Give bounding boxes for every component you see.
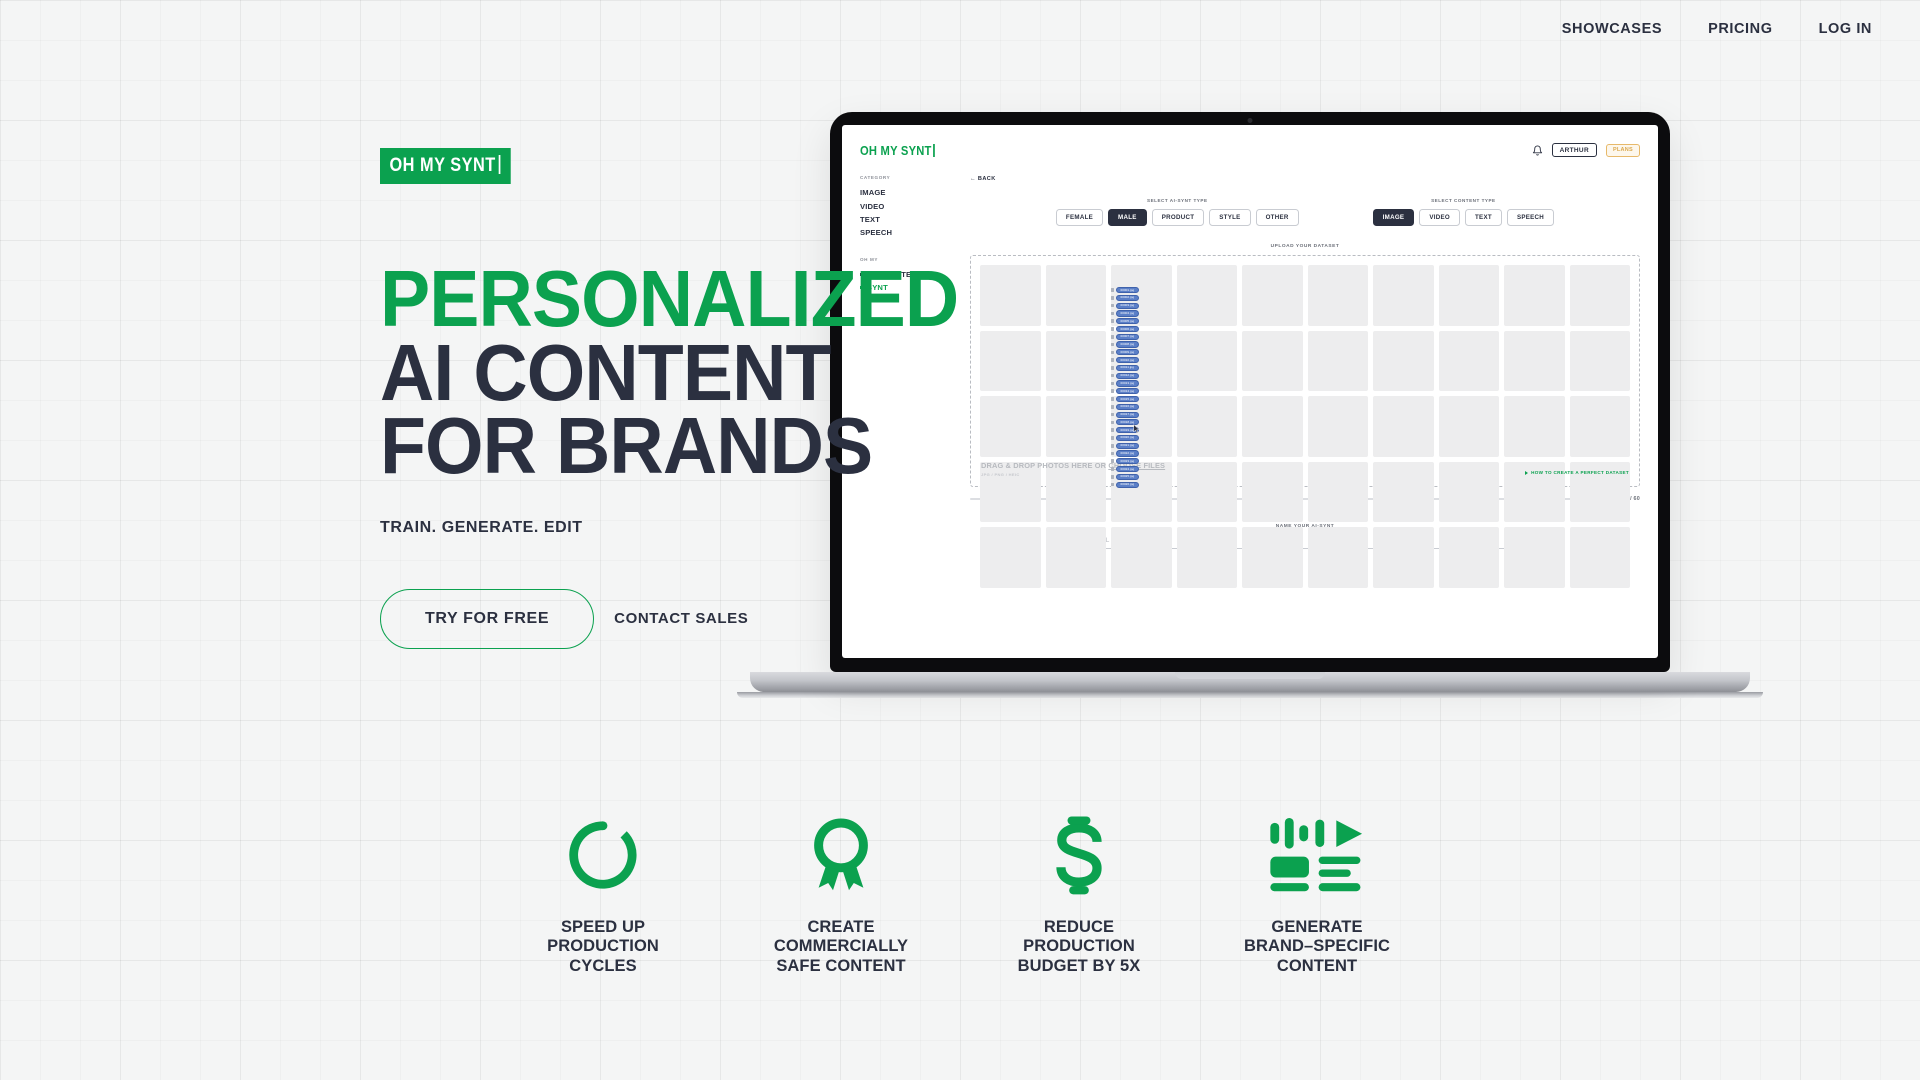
dataset-tile[interactable] [1177,265,1238,326]
dataset-tile[interactable] [980,396,1041,457]
nav-link-pricing[interactable]: PRICING [1708,21,1772,37]
dragged-file-name: 00014.jpg [1116,388,1140,394]
headline-line-1: PERSONALIZED [380,262,906,336]
file-icon [1111,459,1114,463]
dragged-file-name: 00017.jpg [1116,412,1140,418]
dragged-file-name: 00009.jpg [1116,349,1140,355]
dragged-file-chip: 00023.jpg [1111,458,1139,464]
laptop-foot [737,692,1763,698]
dataset-tile[interactable] [1177,527,1238,588]
dataset-tile[interactable] [1046,527,1107,588]
dataset-tile[interactable] [1504,527,1565,588]
how-to-dataset-link[interactable]: HOW TO CREATE A PERFECT DATASET [1525,470,1629,477]
file-icon [1111,428,1114,432]
dragged-file-name: 00007.jpg [1116,334,1140,340]
nav-link-login[interactable]: LOG IN [1819,21,1872,37]
feature-label: SPEED UP PRODUCTION CYCLES [547,918,659,976]
webcam-icon [1248,118,1253,123]
feature-label: GENERATE BRAND–SPECIFIC CONTENT [1244,918,1390,976]
plans-badge-button[interactable]: PLANS [1606,144,1640,157]
content-type-label: SELECT CONTENT TYPE [1373,198,1554,203]
headline-line-2: AI CONTENT [380,336,906,410]
dragged-file-chip: 00012.jpg [1111,373,1139,379]
dataset-tile[interactable] [1439,527,1500,588]
file-icon [1111,366,1114,370]
cta-row: TRY FOR FREE CONTACT SALES [380,589,940,649]
nav-link-showcases[interactable]: SHOWCASES [1562,21,1662,37]
dragged-file-chip: 00011.jpg [1111,365,1139,371]
dataset-tile[interactable] [1046,396,1107,457]
dragged-file-chip: 00006.jpg [1111,326,1139,332]
dataset-tile[interactable] [1177,396,1238,457]
file-icon [1111,405,1114,409]
file-icon [1111,483,1114,487]
media-content-icon [1267,812,1367,898]
file-icon [1111,327,1114,331]
dataset-tile[interactable] [1373,331,1434,392]
file-icon [1111,288,1114,292]
dataset-tile[interactable] [1570,265,1631,326]
dragged-file-chip: 00013.jpg [1111,380,1139,386]
page-title: PERSONALIZED AI CONTENT FOR BRANDS [380,262,906,483]
app-header: OH MY SYNT ARTHUR PLANS [860,139,1640,161]
dragged-file-chip: 00014.jpg [1111,388,1139,394]
feature-speed-up: SPEED UP PRODUCTION CYCLES [484,812,722,976]
dragged-file-name: 00026.jpg [1116,482,1140,488]
dragged-file-chip: 00025.jpg [1111,474,1139,480]
dropzone-footer: DRAG & DROP PHOTOS HERE OR CHOOSE FILES … [981,461,1629,478]
dollar-sign-icon [1046,812,1112,898]
dataset-tile[interactable] [1177,331,1238,392]
dragged-file-chip: 00009.jpg [1111,349,1139,355]
award-ribbon-icon [802,812,880,898]
content-type-selector: SELECT CONTENT TYPE IMAGE VIDEO TEXT SPE… [1373,198,1554,226]
file-icon [1111,475,1114,479]
dragged-file-chip: 00003.jpg [1111,303,1139,309]
dataset-tile[interactable] [1373,396,1434,457]
file-icon [1111,343,1114,347]
file-icon [1111,397,1114,401]
top-navigation: SHOWCASES PRICING LOG IN [0,0,1920,58]
synt-type-female-button[interactable]: FEMALE [1056,209,1103,226]
dataset-tile[interactable] [1570,527,1631,588]
content-type-speech-button[interactable]: SPEECH [1507,209,1554,226]
dataset-tile[interactable] [1242,396,1303,457]
content-type-text-button[interactable]: TEXT [1465,209,1502,226]
dataset-tile[interactable] [1439,331,1500,392]
dragged-file-name: 00013.jpg [1116,380,1140,386]
dataset-tile[interactable] [1373,265,1434,326]
app-body: CATEGORY IMAGE VIDEO TEXT SPEECH OH MY F… [860,175,1640,634]
content-type-image-button[interactable]: IMAGE [1373,209,1415,226]
hero-tagline: TRAIN. GENERATE. EDIT [380,519,940,537]
dragged-file-chip: 00015.jpg [1111,396,1139,402]
synt-type-male-button[interactable]: MALE [1108,209,1147,226]
dragged-file-name: 00005.jpg [1116,318,1140,324]
brand-logo-text: OH MY SYNT [389,155,495,176]
text-cursor-icon [498,155,500,174]
dataset-tile[interactable] [1308,331,1369,392]
file-icon [1111,319,1114,323]
dataset-tile[interactable] [1111,527,1172,588]
dragged-file-chip: 00010.jpg [1111,357,1139,363]
dragged-file-chip: 00007.jpg [1111,334,1139,340]
dragged-file-chip: 00002.jpg [1111,295,1139,301]
dataset-tile[interactable] [1439,396,1500,457]
features-section: SPEED UP PRODUCTION CYCLES CREATE COMMER… [0,812,1920,976]
dragged-file-chip: 00021.jpg [1111,443,1139,449]
contact-sales-link[interactable]: CONTACT SALES [614,610,748,627]
dragged-file-name: 00001.jpg [1116,287,1140,293]
dataset-tile[interactable] [1373,527,1434,588]
feature-reduce-budget: REDUCE PRODUCTION BUDGET BY 5X [960,812,1198,976]
dragged-file-chip: 00016.jpg [1111,404,1139,410]
dragged-file-name: 00025.jpg [1116,474,1140,480]
dragged-file-name: 00011.jpg [1116,365,1140,371]
dragged-file-chip: 00008.jpg [1111,341,1139,347]
dataset-tile[interactable] [1570,396,1631,457]
file-icon [1111,335,1114,339]
user-account-button[interactable]: ARTHUR [1552,143,1597,157]
laptop-base [750,672,1750,692]
dragged-file-name: 00015.jpg [1116,396,1140,402]
file-icon [1111,421,1114,425]
dataset-tile[interactable] [1504,396,1565,457]
dragged-file-name: 00006.jpg [1116,326,1140,332]
file-icon [1111,436,1114,440]
feature-commercially-safe: CREATE COMMERCIALLY SAFE CONTENT [722,812,960,976]
dragged-file-name: 00022.jpg [1116,450,1140,456]
dragged-file-chip: 00022.jpg [1111,450,1139,456]
notification-bell-icon[interactable] [1532,145,1543,156]
hero-section: OH MY SYNT PERSONALIZED AI CONTENT FOR B… [380,148,940,649]
dataset-tile[interactable] [980,265,1041,326]
dataset-tile[interactable] [1308,265,1369,326]
synt-type-other-button[interactable]: OTHER [1256,209,1299,226]
dragged-file-name: 00016.jpg [1116,404,1140,410]
file-icon [1111,413,1114,417]
file-icon [1111,304,1114,308]
mouse-cursor-icon [1133,424,1140,434]
file-icon [1111,296,1114,300]
content-type-options: IMAGE VIDEO TEXT SPEECH [1373,209,1554,226]
dataset-tile[interactable] [1242,331,1303,392]
file-icon [1111,452,1114,456]
dragged-file-name: 00023.jpg [1116,458,1140,464]
dataset-tile[interactable] [1504,331,1565,392]
play-icon [1525,471,1528,475]
synt-type-style-button[interactable]: STYLE [1209,209,1250,226]
dropzone-hint-prefix: DRAG & DROP PHOTOS HERE OR [981,461,1108,470]
file-dropzone[interactable]: 00001.jpg00002.jpg00003.jpg00004.jpg0000… [970,255,1640,487]
app-main-content: ← BACK SELECT AI-SYNT TYPE FEMALE MALE P… [970,175,1640,634]
file-icon [1111,358,1114,362]
ai-synt-type-options: FEMALE MALE PRODUCT STYLE OTHER [1056,209,1299,226]
dataset-tile[interactable] [1308,527,1369,588]
feature-label: REDUCE PRODUCTION BUDGET BY 5X [1018,918,1141,976]
dragged-file-name: 00004.jpg [1116,310,1140,316]
dragged-file-name: 00008.jpg [1116,341,1140,347]
laptop-lid: OH MY SYNT ARTHUR PLANS [830,112,1670,672]
file-icon [1111,351,1114,355]
dragged-file-chip: 00026.jpg [1111,482,1139,488]
app-window: OH MY SYNT ARTHUR PLANS [842,125,1658,658]
dragged-file-name: 00012.jpg [1116,373,1140,379]
feature-label: CREATE COMMERCIALLY SAFE CONTENT [774,918,908,976]
brand-logo-badge: OH MY SYNT [380,148,510,184]
dragged-file-chip: 00024.jpg [1111,466,1139,472]
dataset-tile[interactable] [1046,331,1107,392]
type-selectors: SELECT AI-SYNT TYPE FEMALE MALE PRODUCT … [970,198,1640,226]
try-for-free-button[interactable]: TRY FOR FREE [380,589,594,649]
how-to-dataset-label: HOW TO CREATE A PERFECT DATASET [1531,470,1629,475]
upload-dataset-section: UPLOAD YOUR DATASET 00001.jpg00002.jpg00… [970,244,1640,502]
file-icon [1111,389,1114,393]
dataset-tile[interactable] [1439,265,1500,326]
dataset-tile[interactable] [1046,265,1107,326]
dataset-tile[interactable] [980,527,1041,588]
refresh-cycle-icon [564,812,642,898]
dragged-file-chip: 00020.jpg [1111,435,1139,441]
laptop-screen: OH MY SYNT ARTHUR PLANS [842,125,1658,658]
dragged-file-name: 00024.jpg [1116,466,1140,472]
dragged-file-name: 00020.jpg [1116,435,1140,441]
dragged-file-name: 00002.jpg [1116,295,1140,301]
file-icon [1111,467,1114,471]
dataset-tile[interactable] [1504,265,1565,326]
dragged-files-stack: 00001.jpg00002.jpg00003.jpg00004.jpg0000… [1111,287,1139,488]
synt-type-product-button[interactable]: PRODUCT [1152,209,1205,226]
dragged-file-name: 00021.jpg [1116,443,1140,449]
ai-synt-type-selector: SELECT AI-SYNT TYPE FEMALE MALE PRODUCT … [1056,198,1299,226]
headline-line-3: FOR BRANDS [380,409,906,483]
laptop-mockup: OH MY SYNT ARTHUR PLANS [830,112,1670,698]
dragged-file-chip: 00005.jpg [1111,318,1139,324]
dragged-file-name: 00010.jpg [1116,357,1140,363]
dragged-file-chip: 00004.jpg [1111,310,1139,316]
upload-section-title: UPLOAD YOUR DATASET [970,244,1640,249]
ai-synt-type-label: SELECT AI-SYNT TYPE [1056,198,1299,203]
file-icon [1111,444,1114,448]
dataset-tile[interactable] [1570,331,1631,392]
dataset-tile[interactable] [1308,396,1369,457]
dataset-tile-grid [980,265,1630,588]
dataset-tile[interactable] [1242,265,1303,326]
dragged-file-name: 00003.jpg [1116,303,1140,309]
file-icon [1111,382,1114,386]
dragged-file-chip: 00001.jpg [1111,287,1139,293]
dragged-file-chip: 00017.jpg [1111,412,1139,418]
content-type-video-button[interactable]: VIDEO [1419,209,1460,226]
back-link[interactable]: ← BACK [970,176,996,182]
file-icon [1111,374,1114,378]
feature-brand-specific: GENERATE BRAND–SPECIFIC CONTENT [1198,812,1436,976]
app-header-actions: ARTHUR PLANS [1532,143,1640,157]
dataset-tile[interactable] [1242,527,1303,588]
dataset-tile[interactable] [980,331,1041,392]
file-icon [1111,312,1114,316]
